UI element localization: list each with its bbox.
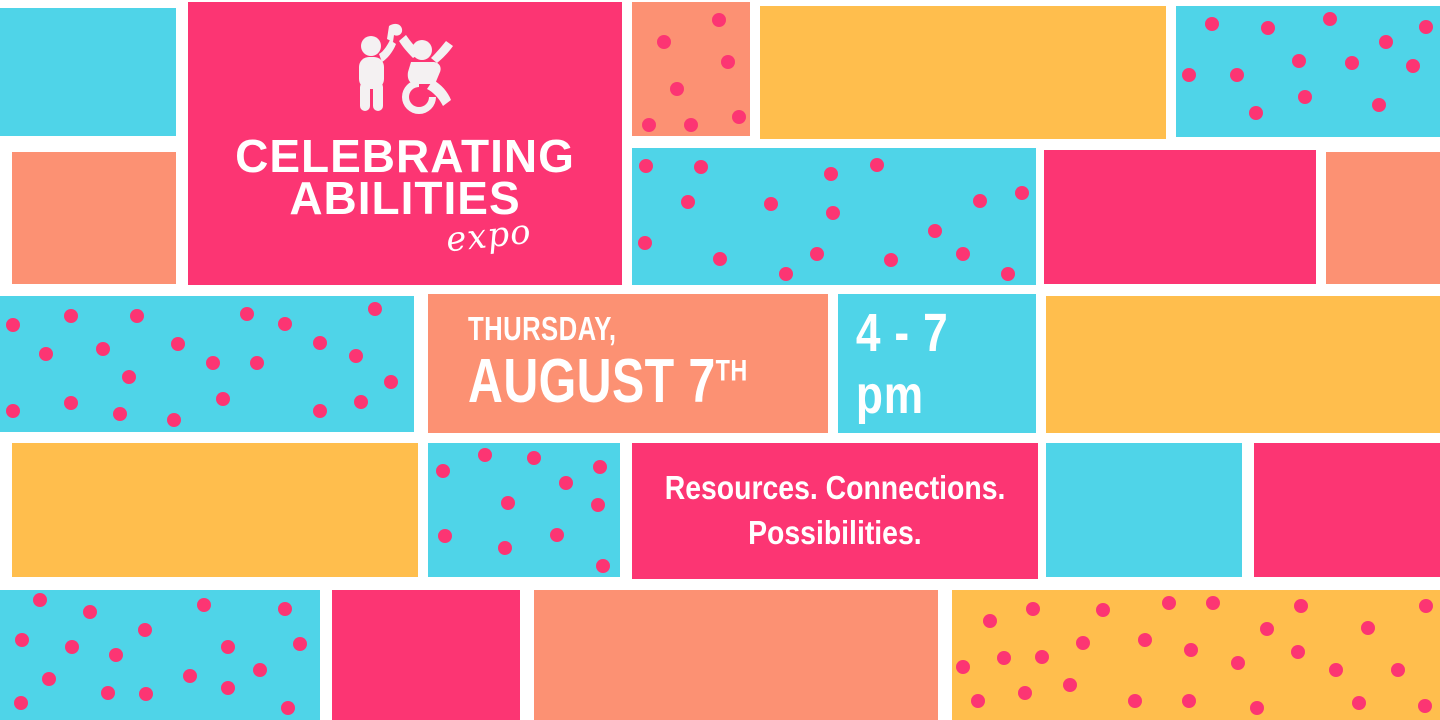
polka-dot	[1372, 98, 1386, 112]
polka-dot	[64, 309, 78, 323]
tile-yellow-row4-left	[12, 443, 418, 577]
polka-dot	[6, 404, 20, 418]
polka-dot	[1063, 678, 1077, 692]
polka-dot	[596, 559, 610, 573]
polka-dot	[694, 160, 708, 174]
polka-dot	[1419, 599, 1433, 613]
polka-dot	[384, 375, 398, 389]
tile-cyan-row4-right	[1046, 443, 1242, 577]
polka-dot	[313, 404, 327, 418]
tagline-line-one: Resources. Connections.	[665, 466, 1006, 511]
polka-dot	[591, 498, 605, 512]
logo-line-one: CELEBRATING	[235, 135, 575, 177]
polka-dot	[171, 337, 185, 351]
polka-dot	[438, 529, 452, 543]
polka-dot	[638, 236, 652, 250]
polka-dot	[354, 395, 368, 409]
event-weekday: THURSDAY,	[468, 312, 749, 345]
tile-cyan-dotted-topright	[1176, 6, 1440, 137]
polka-dot	[109, 648, 123, 662]
polka-dot	[1294, 599, 1308, 613]
celebrating-abilities-figures-icon	[349, 22, 461, 119]
polka-dot	[1352, 696, 1366, 710]
polka-dot	[139, 687, 153, 701]
polka-dot	[824, 167, 838, 181]
polka-dot	[14, 696, 28, 710]
event-date-block: THURSDAY, AUGUST 7TH	[428, 294, 828, 433]
polka-dot	[670, 82, 684, 96]
tile-pink-row4-right	[1254, 443, 1440, 577]
logo-block: CELEBRATING ABILITIES expo	[188, 2, 622, 285]
polka-dot	[1249, 106, 1263, 120]
event-month-day: AUGUST 7	[468, 347, 716, 416]
event-date: AUGUST 7TH	[468, 349, 749, 414]
polka-dot	[870, 158, 884, 172]
polka-dot	[96, 342, 110, 356]
polka-dot	[6, 318, 20, 332]
polka-dot	[1182, 68, 1196, 82]
polka-dot	[928, 224, 942, 238]
polka-dot	[1138, 633, 1152, 647]
tile-cyan-dotted-bottom	[0, 590, 320, 720]
polka-dot	[1184, 643, 1198, 657]
polka-dot	[681, 195, 695, 209]
polka-dot	[197, 598, 211, 612]
tile-salmon-bottom	[534, 590, 938, 720]
polka-dot	[1015, 186, 1029, 200]
polka-dot	[1231, 656, 1245, 670]
polka-dot	[1001, 267, 1015, 281]
logo-line-two: ABILITIES	[289, 177, 520, 219]
polka-dot	[1026, 602, 1040, 616]
tile-cyan-dotted-row3-left	[0, 296, 414, 432]
tile-salmon-left	[12, 152, 176, 284]
polka-dot	[956, 247, 970, 261]
polka-dot	[1361, 621, 1375, 635]
polka-dot	[1345, 56, 1359, 70]
polka-dot	[498, 541, 512, 555]
polka-dot	[206, 356, 220, 370]
polka-dot	[368, 302, 382, 316]
tile-salmon-dotted-top	[632, 2, 750, 136]
polka-dot	[1292, 54, 1306, 68]
polka-dot	[1128, 694, 1142, 708]
polka-dot	[684, 118, 698, 132]
polka-dot	[712, 13, 726, 27]
tile-cyan-dotted-row4	[428, 443, 620, 577]
polka-dot	[1035, 650, 1049, 664]
polka-dot	[15, 633, 29, 647]
polka-dot	[253, 663, 267, 677]
polka-dot	[527, 451, 541, 465]
polka-dot	[956, 660, 970, 674]
polka-dot	[113, 407, 127, 421]
event-time-block: 4 - 7 pm	[838, 294, 1036, 433]
polka-dot	[1076, 636, 1090, 650]
polka-dot	[167, 413, 181, 427]
polka-dot	[1329, 663, 1343, 677]
tile-yellow-row3-right	[1046, 296, 1440, 433]
polka-dot	[884, 253, 898, 267]
polka-dot	[1260, 622, 1274, 636]
polka-dot	[281, 701, 295, 715]
tile-cyan-top-left	[0, 8, 176, 136]
polka-dot	[1162, 596, 1176, 610]
polka-dot	[1379, 35, 1393, 49]
polka-dot	[349, 349, 363, 363]
polka-dot	[101, 686, 115, 700]
polka-dot	[1261, 21, 1275, 35]
polka-dot	[642, 118, 656, 132]
tile-pink-bottom	[332, 590, 520, 720]
polka-dot	[183, 669, 197, 683]
event-tagline-block: Resources. Connections. Possibilities.	[632, 443, 1038, 579]
polka-dot	[593, 460, 607, 474]
polka-dot	[657, 35, 671, 49]
tile-yellow-top	[760, 6, 1166, 139]
polka-dot	[1323, 12, 1337, 26]
polka-dot	[779, 267, 793, 281]
polka-dot	[997, 651, 1011, 665]
polka-dot	[478, 448, 492, 462]
polka-dot	[42, 672, 56, 686]
polka-dot	[810, 247, 824, 261]
polka-dot	[240, 307, 254, 321]
poster-canvas: CELEBRATING ABILITIES expo THURSDAY, AUG…	[0, 0, 1440, 720]
polka-dot	[278, 317, 292, 331]
polka-dot	[639, 159, 653, 173]
polka-dot	[33, 593, 47, 607]
tagline-line-two: Possibilities.	[748, 511, 922, 556]
polka-dot	[713, 252, 727, 266]
polka-dot	[1096, 603, 1110, 617]
tile-pink-row2	[1044, 150, 1316, 284]
polka-dot	[122, 370, 136, 384]
polka-dot	[138, 623, 152, 637]
polka-dot	[83, 605, 97, 619]
polka-dot	[973, 194, 987, 208]
polka-dot	[436, 464, 450, 478]
polka-dot	[313, 336, 327, 350]
polka-dot	[826, 206, 840, 220]
polka-dot	[64, 396, 78, 410]
polka-dot	[39, 347, 53, 361]
polka-dot	[1418, 699, 1432, 713]
polka-dot	[1206, 596, 1220, 610]
polka-dot	[250, 356, 264, 370]
event-date-ordinal: TH	[716, 355, 748, 388]
polka-dot	[1250, 701, 1264, 715]
logo-script-expo: expo	[445, 211, 534, 260]
polka-dot	[1230, 68, 1244, 82]
polka-dot	[1291, 645, 1305, 659]
polka-dot	[1205, 17, 1219, 31]
polka-dot	[65, 640, 79, 654]
polka-dot	[721, 55, 735, 69]
polka-dot	[559, 476, 573, 490]
polka-dot	[983, 614, 997, 628]
event-time: 4 - 7 pm	[856, 302, 1018, 426]
polka-dot	[1298, 90, 1312, 104]
tile-salmon-row2-right	[1326, 152, 1440, 284]
polka-dot	[293, 637, 307, 651]
polka-dot	[1018, 686, 1032, 700]
tile-yellow-dotted-bottom	[952, 590, 1440, 720]
polka-dot	[1182, 694, 1196, 708]
polka-dot	[501, 496, 515, 510]
polka-dot	[221, 640, 235, 654]
polka-dot	[1391, 663, 1405, 677]
polka-dot	[971, 694, 985, 708]
polka-dot	[1419, 20, 1433, 34]
tile-cyan-dotted-row2	[632, 148, 1036, 285]
polka-dot	[550, 528, 564, 542]
polka-dot	[216, 392, 230, 406]
polka-dot	[130, 309, 144, 323]
polka-dot	[1406, 59, 1420, 73]
polka-dot	[221, 681, 235, 695]
polka-dot	[732, 110, 746, 124]
polka-dot	[278, 602, 292, 616]
polka-dot	[764, 197, 778, 211]
